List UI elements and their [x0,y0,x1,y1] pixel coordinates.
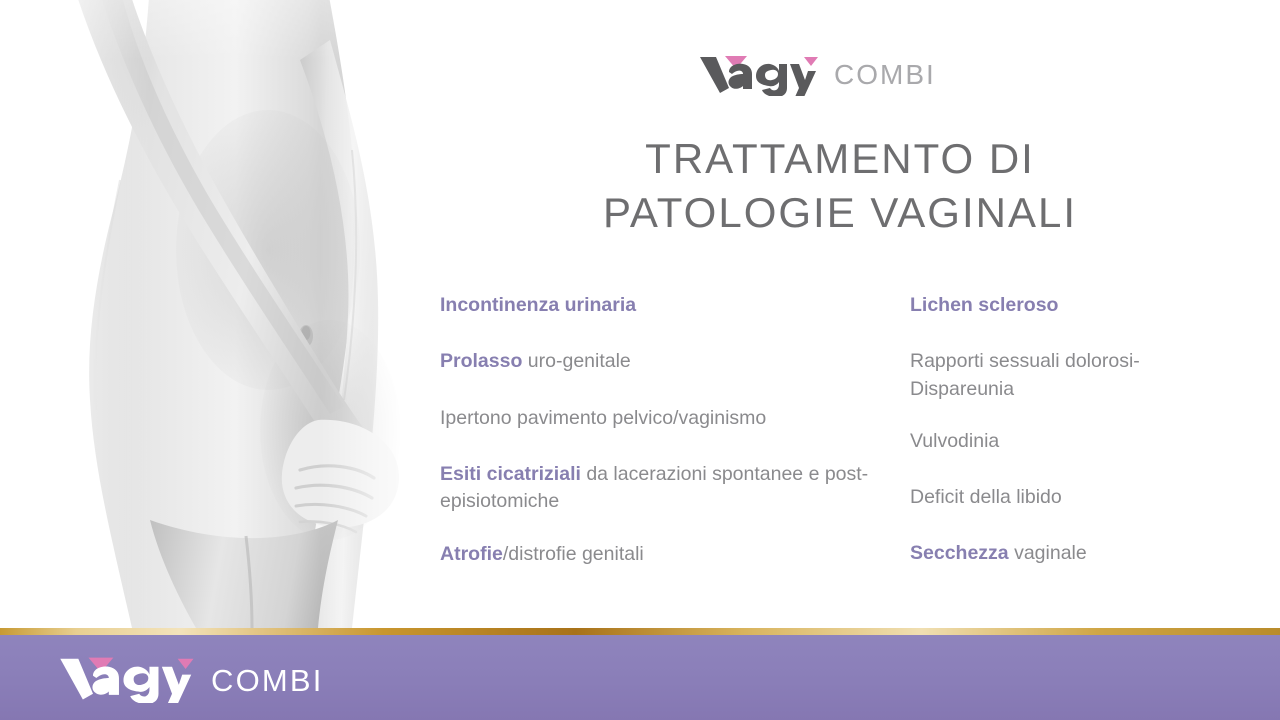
conditions-columns: Incontinenza urinariaProlasso uro-genita… [440,292,1240,592]
title-line-1: TRATTAMENTO DI [440,132,1240,186]
condition-highlight: Secchezza [910,542,1009,564]
condition-item: Prolasso uro-genitale [440,348,900,375]
hero-photo [0,0,440,628]
torso-photo-illustration [0,0,440,628]
condition-item: Rapporti sessuali dolorosi-Dispareunia [910,348,1210,403]
header-brand-logo: COMBI [698,52,936,96]
condition-item: Deficit della libido [910,484,1210,511]
condition-highlight: Prolasso [440,350,522,372]
vagy-logo-icon [58,653,198,703]
slide-root: COMBI TRATTAMENTO DI PATOLOGIE VAGINALI … [0,0,1280,720]
condition-highlight: Incontinenza urinaria [440,294,636,316]
title-line-2: PATOLOGIE VAGINALI [440,186,1240,240]
condition-rest: /distrofie genitali [503,543,644,565]
condition-item: Esiti cicatriziali da lacerazioni sponta… [440,461,900,516]
footer-bar: COMBI [0,635,1280,720]
condition-rest: Ipertono pavimento pelvico/vaginismo [440,407,766,429]
condition-item: Vulvodinia [910,428,1210,455]
conditions-column-left: Incontinenza urinariaProlasso uro-genita… [440,292,910,592]
header-product-name: COMBI [834,61,936,89]
condition-rest: Vulvodinia [910,430,999,452]
condition-highlight: Esiti cicatriziali [440,463,581,485]
condition-item: Atrofie/distrofie genitali [440,541,900,568]
conditions-column-right: Lichen sclerosoRapporti sessuali doloros… [910,292,1240,592]
page-title: TRATTAMENTO DI PATOLOGIE VAGINALI [440,132,1240,240]
condition-item: Lichen scleroso [910,292,1210,319]
condition-highlight: Lichen scleroso [910,294,1058,316]
condition-item: Incontinenza urinaria [440,292,900,319]
condition-rest: Deficit della libido [910,486,1062,508]
condition-rest: uro-genitale [522,350,630,372]
gold-divider [0,628,1280,635]
condition-rest: vaginale [1009,542,1087,564]
condition-item: Secchezza vaginale [910,540,1210,567]
condition-item: Ipertono pavimento pelvico/vaginismo [440,405,900,432]
footer-product-name: COMBI [211,665,324,696]
footer-brand-logo: COMBI [58,653,324,703]
condition-rest: Rapporti sessuali dolorosi-Dispareunia [910,350,1140,399]
condition-highlight: Atrofie [440,543,503,565]
vagy-logo-icon [698,52,822,96]
